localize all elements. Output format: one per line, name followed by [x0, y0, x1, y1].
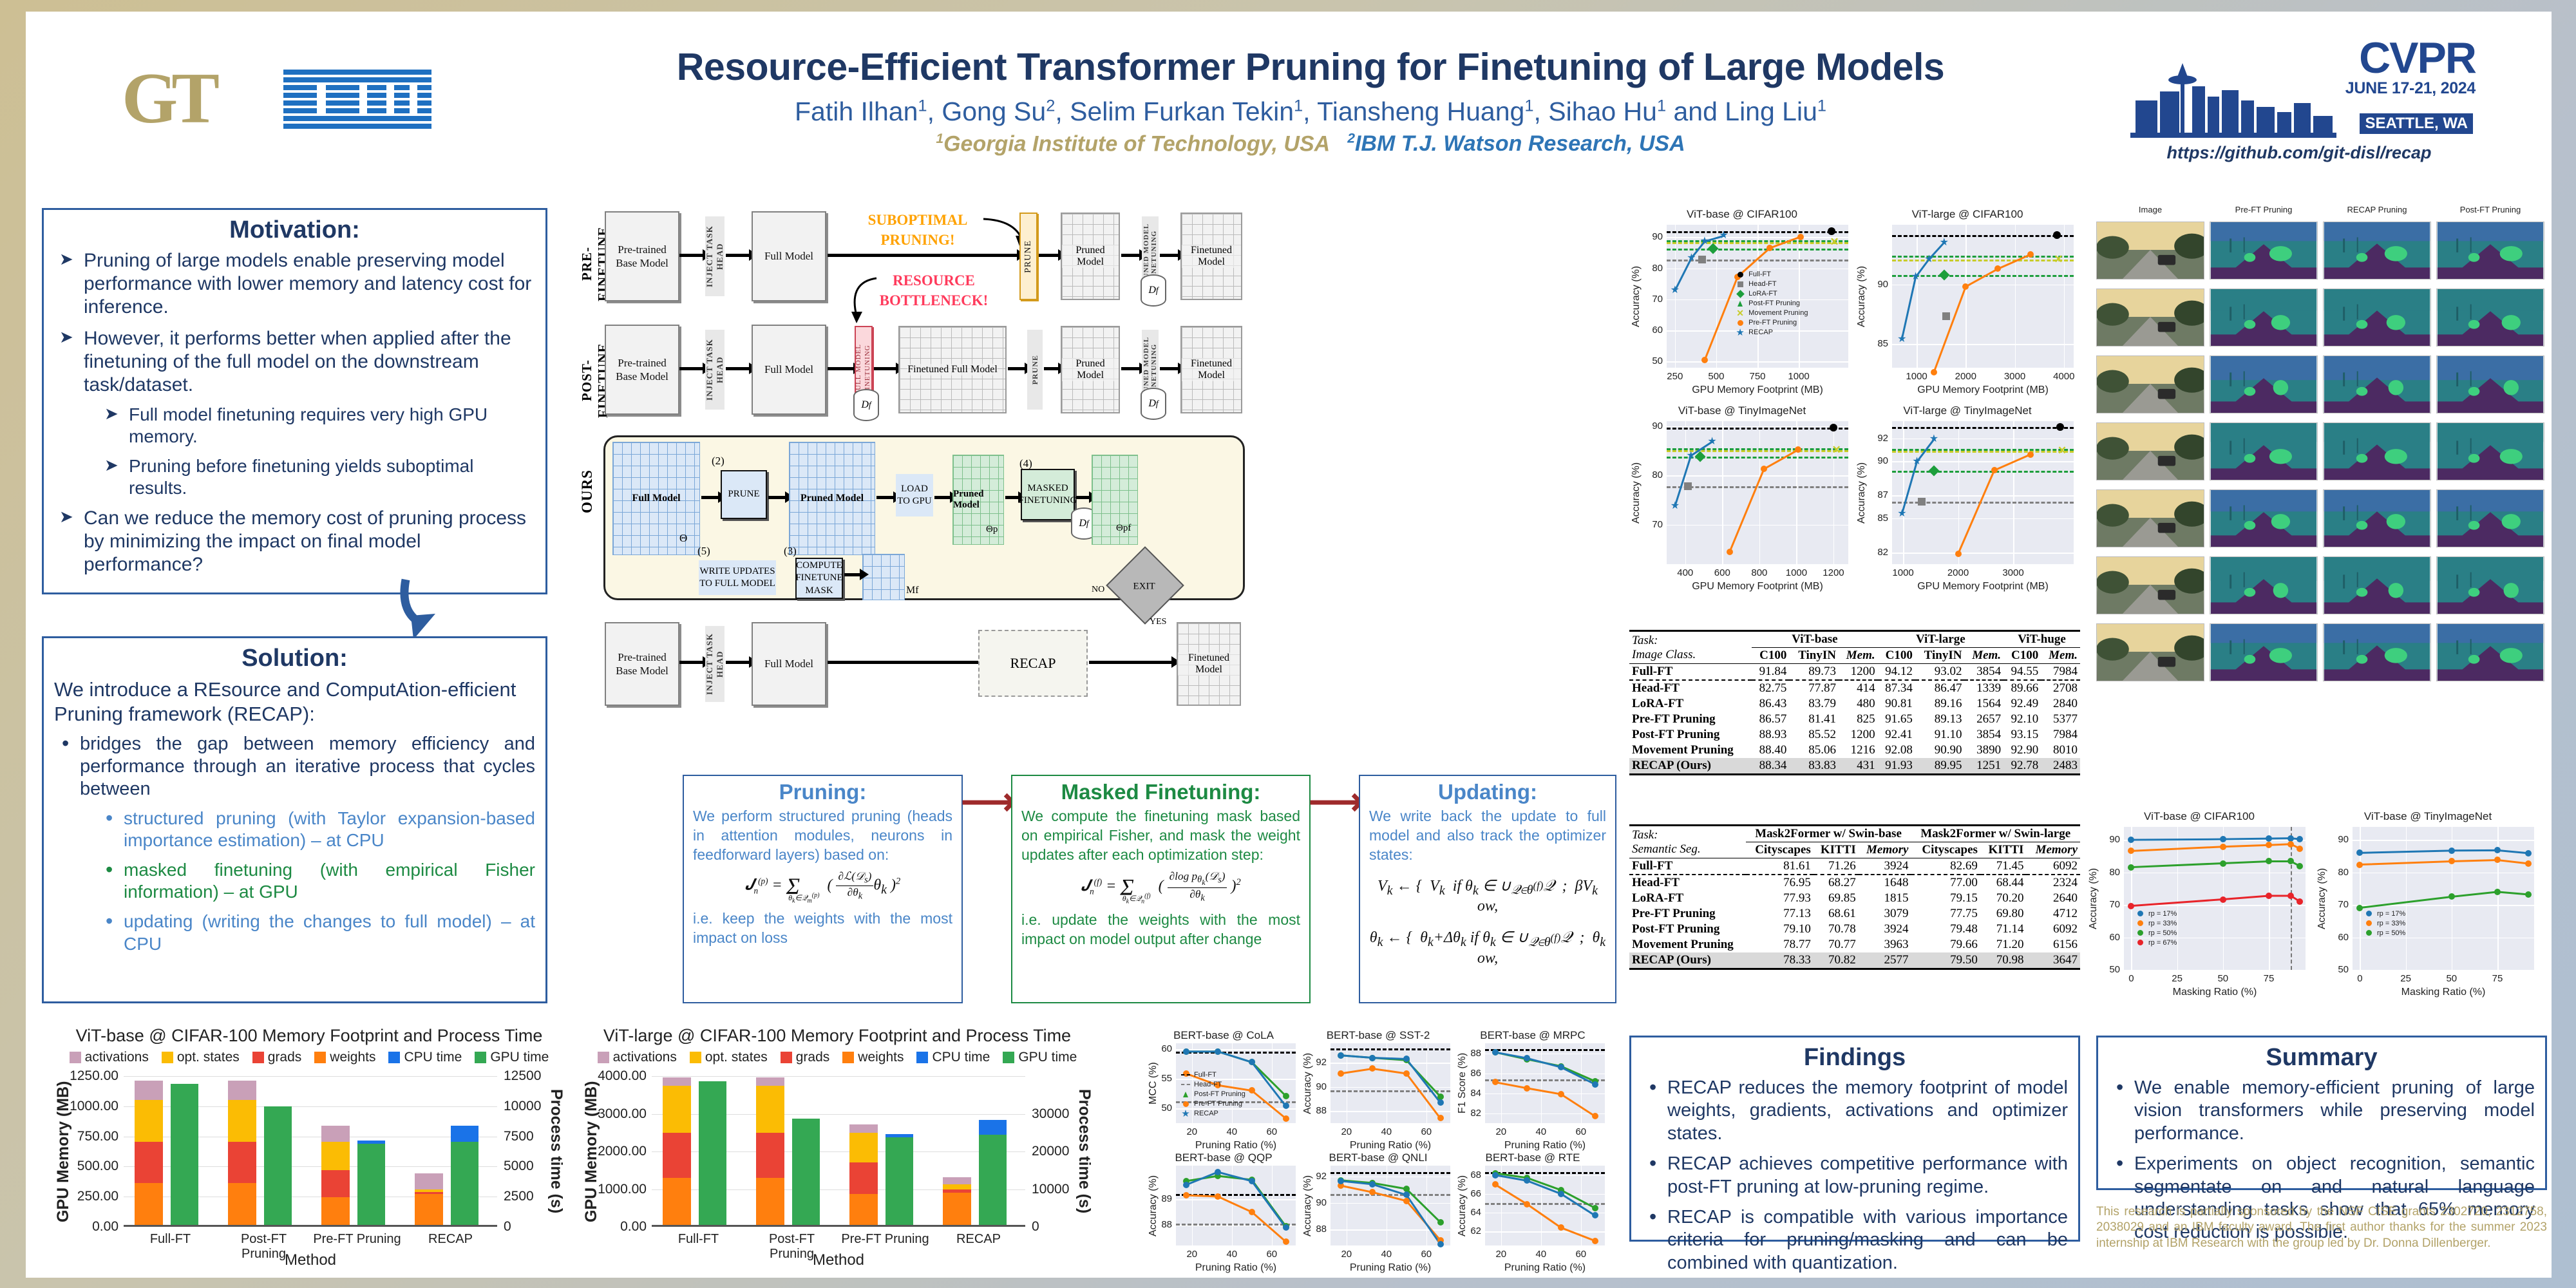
chart-plot-area: ★★★✕ — [1667, 421, 1848, 564]
legend-item: rp = 33% — [2364, 920, 2405, 927]
table-row-label: Post-FT Pruning — [1629, 922, 1746, 937]
series-point — [1523, 1054, 1531, 1062]
bar-segment-weights — [415, 1194, 443, 1225]
table-cell: 77.75 — [1911, 906, 1980, 922]
series-point: ★ — [1925, 256, 1933, 263]
legend-marker-icon — [2364, 920, 2373, 926]
table-cell: 81.41 — [1789, 712, 1839, 727]
callout-arrow-icon — [837, 276, 882, 327]
bar-segment-grads — [849, 1162, 878, 1194]
point-head-ft — [1942, 312, 1951, 321]
x-axis-label: Method — [124, 1251, 497, 1269]
x-tick-label: 250 — [1662, 371, 1688, 382]
prune-label-2: PRUNE — [1027, 330, 1043, 410]
series-point — [2287, 840, 2295, 848]
table-cell: 94.12 — [1878, 664, 1915, 681]
table-cell: 69.85 — [1814, 891, 1859, 906]
bar-segment-optstates — [663, 1086, 691, 1133]
legend-item: weights — [842, 1050, 904, 1065]
legend-item: Head-FT — [1736, 280, 1776, 288]
x-tick-label: 800 — [1747, 567, 1772, 578]
series-point — [1248, 1058, 1256, 1066]
table-row-label: Pre-FT Pruning — [1629, 712, 1752, 727]
table-row-label: LoRA-FT — [1629, 891, 1746, 906]
recap-node: RECAP — [978, 630, 1088, 697]
y-axis-label: MCC (%) — [1148, 1043, 1159, 1123]
table-cell: 69.80 — [1980, 906, 2027, 922]
step-4-label: (4) — [1019, 457, 1032, 470]
callout-resource-bottleneck: RESOURCEBOTTLENECK! — [873, 270, 995, 310]
full-model-node-1: Full Model — [752, 211, 826, 301]
legend-marker-icon — [2136, 920, 2145, 926]
table-cell: 89.95 — [1915, 758, 1965, 775]
x-tick-label: 1000 — [1783, 567, 1809, 578]
bar-segment-CPUtime — [885, 1134, 914, 1137]
table-cell: 90.81 — [1878, 696, 1915, 712]
results-table: Task:Semantic Seg.Mask2Former w/ Swin-ba… — [1629, 824, 2080, 970]
chart-bert_cola: BERT-base @ CoLA204060505560MCC (%)Pruni… — [1146, 1029, 1301, 1151]
table-cell: 83.83 — [1789, 758, 1839, 775]
flow-arrow-icon-2: ⟶ — [1309, 779, 1364, 824]
seg-column-header: Image — [2096, 205, 2204, 214]
table-cell: 82.75 — [1752, 680, 1789, 696]
series-point — [1282, 1115, 1290, 1122]
table-row: Post-FT Pruning79.1070.78392479.4871.146… — [1629, 922, 2080, 937]
point-lora-ft — [1940, 270, 1949, 279]
legend-item: rp = 50% — [2364, 929, 2405, 937]
series-line — [1186, 1195, 1286, 1242]
legend-marker-icon: ★ — [1736, 330, 1745, 336]
list-item: RECAP reduces the memory footprint of mo… — [1642, 1077, 2068, 1145]
bar-segment-grads — [756, 1133, 784, 1178]
table-cell: 77.87 — [1789, 680, 1839, 696]
seg-column-header: Pre-FT Pruning — [2210, 205, 2318, 214]
series-point — [1591, 1237, 1599, 1245]
series-point — [2265, 892, 2273, 900]
x-tick-label: Full-FT — [652, 1232, 745, 1247]
bar-segment-grads — [321, 1170, 350, 1197]
table-cell: 1200 — [1839, 664, 1878, 681]
chart-plot-area: ★★★✕ — [1892, 421, 2074, 564]
bar-segment-optstates — [756, 1086, 784, 1133]
table-cell: 70.77 — [1814, 937, 1859, 952]
series-point — [1591, 1211, 1599, 1219]
table-cell: 79.66 — [1911, 937, 1980, 952]
bar-segment-GPUtime — [171, 1084, 199, 1225]
legend-label: Head-FT — [1194, 1081, 1222, 1088]
legend-label: grads — [796, 1050, 830, 1065]
bar-segment-grads — [415, 1192, 443, 1194]
table-cell: 68.61 — [1814, 906, 1859, 922]
series-point — [1403, 1191, 1410, 1198]
table-cell: 70.98 — [1980, 952, 2027, 969]
point-full-ft — [1829, 423, 1838, 432]
x-tick-label: Pre-FT Pruning — [838, 1232, 932, 1247]
x-axis-label: GPU Memory Footprint (MB) — [1667, 384, 1848, 396]
table-group-header: Mask2Former w/ Swin-large — [1911, 826, 2080, 842]
table-column-header: Cityscapes — [1911, 842, 1980, 858]
compute-finetune-mask-node: COMPUTE FINETUNE MASK — [795, 558, 843, 599]
table-cell: 91.93 — [1878, 758, 1915, 775]
table-cell: 1251 — [1964, 758, 2003, 775]
pruning-text: We perform structured pruning (heads in … — [693, 807, 952, 865]
author-list: Fatih Ilhan1, Gong Su2, Selim Furkan Tek… — [560, 97, 2061, 127]
table-row: RECAP (Ours)78.3370.82257779.5070.983647 — [1629, 952, 2080, 969]
series-point — [1492, 1180, 1499, 1188]
table-row-label: Full-FT — [1629, 664, 1752, 681]
series-point — [1492, 1171, 1499, 1179]
series-point — [2448, 857, 2456, 865]
table-cell: 94.55 — [2003, 664, 2041, 681]
inject-task-head-label-1: INJECT TASK HEAD — [705, 216, 724, 296]
gridline — [124, 1076, 497, 1077]
seg-prediction-image — [2210, 355, 2318, 413]
table-cell: 89.16 — [1915, 696, 1965, 712]
series-point — [2494, 846, 2501, 854]
table-row: Full-FT81.6171.26392482.6971.456092 — [1629, 858, 2080, 875]
solution-box: Solution: We introduce a REsource and Co… — [42, 636, 547, 1003]
list-item: Pruning before finetuning yields subopti… — [100, 455, 534, 498]
legend-swatch — [690, 1052, 701, 1063]
chart-vit_large_tinyin_mem: ViT-large @ TinyImageNet1000200030008285… — [1855, 404, 2080, 598]
image-classification-table: Task:Image Class.ViT-baseViT-largeViT-hu… — [1629, 630, 2080, 775]
bar-segment-CPUtime — [357, 1141, 386, 1144]
chart-bert_qqp: BERT-base @ QQP2040608889Accuracy (%)Pru… — [1146, 1151, 1301, 1274]
seg-prediction-image — [2210, 623, 2318, 681]
chart-bert_mrpc: BERT-base @ MRPC20406082848688F1 Score (… — [1455, 1029, 1610, 1151]
x-tick-label: 60 — [1259, 1249, 1285, 1260]
pruning-note: i.e. keep the weights with the most impa… — [693, 909, 952, 948]
series-line — [1341, 1068, 1441, 1118]
series-point — [2296, 835, 2304, 843]
table-column-header: C100 — [2003, 648, 2041, 664]
x-tick-label: 3000 — [2000, 567, 2026, 578]
legend-label: Pre-FT Pruning — [1194, 1100, 1242, 1108]
x-tick-label: 20 — [1334, 1249, 1359, 1260]
legend-item: GPU time — [475, 1050, 549, 1065]
series-point — [1994, 265, 2002, 272]
x-axis-label: Pruning Ratio (%) — [1176, 1262, 1296, 1274]
point-head-ft — [1917, 497, 1926, 506]
table-row: Post-FT Pruning88.9385.52120092.4191.103… — [1629, 727, 2080, 743]
motivation-title: Motivation: — [44, 216, 545, 244]
legend-marker-icon — [2136, 940, 2145, 945]
y-axis-label: Accuracy (%) — [1631, 225, 1642, 368]
series-point: ★ — [1912, 273, 1920, 281]
series-point — [1797, 233, 1804, 241]
table-row: LoRA-FT86.4383.7948090.8189.16156492.492… — [1629, 696, 2080, 712]
legend-item: ✕Movement Pruning — [1736, 309, 1808, 317]
point-full-ft — [2056, 422, 2065, 431]
series-line — [2131, 838, 2300, 840]
table-cell: 79.15 — [1911, 891, 1980, 906]
chart-series-layer — [1667, 421, 1848, 564]
table-cell: 2640 — [2026, 891, 2080, 906]
table-row-label: Movement Pruning — [1629, 743, 1752, 758]
dataset-cylinder-icon: Df — [1141, 274, 1166, 307]
table-row: Movement Pruning88.4085.06121692.0890.90… — [1629, 743, 2080, 758]
seg-source-image — [2096, 623, 2204, 681]
table-cell: 86.47 — [1915, 680, 1965, 696]
bar-segment-GPUtime — [451, 1142, 479, 1225]
x-tick-label: 20 — [1334, 1126, 1359, 1137]
table-cell: 77.93 — [1746, 891, 1814, 906]
table-cell: 2840 — [2041, 696, 2080, 712]
x-axis-label: Pruning Ratio (%) — [1485, 1262, 1605, 1274]
chart-plot-area — [1176, 1166, 1296, 1245]
series-point — [1337, 1052, 1345, 1059]
poster-canvas: GT Resource-Efficient Transformer Prunin… — [26, 12, 2552, 1278]
series-point — [2127, 836, 2135, 844]
legend-label: Head-FT — [1748, 280, 1776, 288]
table-cell: 3890 — [1964, 743, 2003, 758]
series-point — [1437, 1099, 1444, 1106]
table-cell: 8010 — [2041, 743, 2080, 758]
chart-bert_qnli: BERT-base @ QNLI204060889092Accuracy (%)… — [1301, 1151, 1455, 1274]
chart-series-layer — [1331, 1043, 1450, 1123]
chart-series-layer — [1892, 225, 2074, 368]
table-cell: 85.52 — [1789, 727, 1839, 743]
legend-item: activations — [70, 1050, 149, 1065]
chart-title: BERT-base @ QNLI — [1301, 1151, 1455, 1164]
acknowledgement-text: This research is partially sponsored by … — [2096, 1204, 2547, 1251]
legend-label: rp = 33% — [2377, 920, 2405, 927]
legend-label: rp = 33% — [2148, 920, 2177, 927]
series-point — [1557, 1224, 1565, 1231]
bar-segment-activations — [943, 1177, 971, 1184]
legend-swatch — [916, 1052, 928, 1063]
motivation-box: Motivation: Pruning of large models enab… — [42, 208, 547, 594]
y-axis-label: Accuracy (%) — [1148, 1166, 1159, 1245]
chart-mask_cifar100: ViT-base @ CIFAR10002550755060708090Accu… — [2087, 810, 2312, 1003]
series-point — [2448, 893, 2456, 900]
bar-segment-CPUtime — [979, 1120, 1007, 1135]
table-cell: 77.13 — [1746, 906, 1814, 922]
table-cell: 70.78 — [1814, 922, 1859, 937]
table-column-header: Mem. — [1964, 648, 2003, 664]
x-tick-label: 20 — [1179, 1126, 1205, 1137]
bar-segment-activations — [663, 1077, 691, 1086]
table-cell: 81.61 — [1746, 858, 1814, 875]
legend-marker-icon — [1181, 1101, 1190, 1107]
series-point — [1930, 368, 1938, 376]
row-label-pre-finetune: PRE-FINETUNEPRUNING — [579, 213, 597, 316]
legend-label: Post-FT Pruning — [1748, 299, 1800, 307]
point-head-ft — [1683, 482, 1692, 491]
x-tick-label: 25 — [2393, 973, 2419, 984]
no-label: NO — [1092, 585, 1104, 595]
series-line — [1341, 1186, 1441, 1240]
bar-segment-weights — [943, 1193, 971, 1225]
legend-marker-icon — [2364, 930, 2373, 936]
table-cell: 82.69 — [1911, 858, 1980, 875]
table-row-label: Head-FT — [1629, 875, 1746, 891]
series-line — [1186, 1176, 1286, 1226]
table-cell: 90.90 — [1915, 743, 1965, 758]
series-point — [2219, 860, 2227, 867]
legend-item: rp = 17% — [2364, 910, 2405, 918]
legend-item: ★RECAP — [1181, 1110, 1218, 1117]
table-cell: 2708 — [2041, 680, 2080, 696]
list-item: Full model finetuning requires very high… — [100, 404, 534, 447]
x-tick-label: RECAP — [404, 1232, 497, 1247]
seg-prediction-image — [2210, 489, 2318, 547]
table-row: LoRA-FT77.9369.85181579.1570.202640 — [1629, 891, 2080, 906]
point-lora-ft — [1696, 452, 1705, 461]
chart-series-layer — [1176, 1166, 1296, 1245]
table-cell: 88.40 — [1752, 743, 1789, 758]
legend-marker-icon — [1736, 272, 1745, 278]
masked-note: i.e. update the weights with the most im… — [1021, 911, 1300, 949]
table-row: RECAP (Ours)88.3483.8343191.9389.9512519… — [1629, 758, 2080, 775]
finetuned-model-node-3: Finetuned Model — [1177, 622, 1241, 706]
series-point — [1523, 1177, 1531, 1184]
legend-label: weights — [330, 1050, 375, 1065]
x-axis-label: Masking Ratio (%) — [2124, 987, 2306, 998]
seg-prediction-image — [2210, 289, 2318, 346]
series-point — [1368, 1065, 1376, 1072]
chart-series-layer — [1485, 1043, 1605, 1123]
series-point — [2219, 843, 2227, 851]
project-url[interactable]: https://github.com/git-disl/recap — [2119, 143, 2479, 163]
series-point — [1591, 1204, 1599, 1212]
series-point — [2524, 891, 2532, 898]
table-cell: 76.95 — [1746, 875, 1814, 891]
chart-title: BERT-base @ MRPC — [1455, 1029, 1610, 1042]
legend-marker-icon — [2136, 911, 2145, 916]
table-cell: 79.48 — [1911, 922, 1980, 937]
series-point — [1726, 548, 1734, 556]
chart-legend: activationsopt. statesgradsweightsCPU ti… — [52, 1050, 567, 1065]
legend-label: RECAP — [1748, 328, 1773, 336]
bar-segment-CPUtime — [451, 1126, 479, 1142]
chart-title: ViT-base @ CIFAR-100 Memory Footprint an… — [52, 1026, 567, 1046]
bar-segment-grads — [228, 1142, 256, 1184]
series-point — [1701, 356, 1709, 364]
series-point — [2356, 861, 2363, 869]
table-row: Pre-FT Pruning86.5781.4182591.6589.13265… — [1629, 712, 2080, 727]
x-tick-label: 60 — [1259, 1126, 1285, 1137]
series-point — [1523, 1084, 1531, 1092]
x-tick-label: 4000 — [2051, 371, 2077, 382]
legend-label: rp = 50% — [2148, 929, 2177, 937]
x-axis-label: Pruning Ratio (%) — [1331, 1140, 1450, 1151]
legend-item: Pre-FT Pruning — [1181, 1100, 1242, 1108]
chart-title: ViT-base @ CIFAR100 — [1629, 208, 1855, 221]
table-cell: 6156 — [2026, 937, 2080, 952]
bar-segment-GPUtime — [357, 1144, 386, 1225]
table-cell: 70.20 — [1980, 891, 2027, 906]
table-cell: 92.10 — [2003, 712, 2041, 727]
series-point: ★ — [1671, 287, 1679, 294]
table-cell: 3924 — [1859, 858, 1911, 875]
table-cell: 480 — [1839, 696, 1878, 712]
legend-marker-icon — [1181, 1084, 1190, 1085]
cvpr-badge: CVPR JUNE 17-21, 2024 SEATTLE, WA https:… — [2119, 26, 2479, 163]
chart-title: ViT-large @ TinyImageNet — [1855, 404, 2080, 417]
x-tick-label: 400 — [1672, 567, 1698, 578]
legend-marker-icon — [1736, 291, 1745, 297]
updating-text: We write back the update to full model a… — [1369, 807, 1606, 865]
list-item: We enable memory-efficient pruning of la… — [2108, 1077, 2535, 1145]
full-model-node-2: Full Model — [752, 325, 826, 415]
list-item: However, it performs better when applied… — [55, 327, 534, 498]
x-tick-label: 0 — [2347, 973, 2372, 984]
inject-task-head-label-3: INJECT TASK HEAD — [705, 626, 724, 702]
series-point — [1282, 1102, 1290, 1110]
seg-prediction-image — [2436, 422, 2544, 480]
legend-label: Full-FT — [1748, 270, 1771, 278]
bar-segment-activations — [849, 1124, 878, 1133]
findings-title: Findings — [1631, 1044, 2078, 1072]
legend-marker-icon — [2136, 930, 2145, 936]
series-point — [1248, 1177, 1256, 1185]
pruning-title: Pruning: — [693, 780, 952, 804]
table-cell: 1339 — [1964, 680, 2003, 696]
table-row: Head-FT76.9568.27164877.0068.442324 — [1629, 875, 2080, 891]
series-point — [1248, 1086, 1256, 1094]
cvpr-logo: CVPR JUNE 17-21, 2024 SEATTLE, WA — [2119, 26, 2479, 142]
table-cell: 78.33 — [1746, 952, 1814, 969]
table-cell: 3647 — [2026, 952, 2080, 969]
series-point: ★ — [1687, 254, 1695, 262]
finetuned-full-model-node: Finetuned Full Model — [898, 326, 1007, 413]
seg-prediction-image — [2436, 489, 2544, 547]
bar-segment-activations — [321, 1126, 350, 1142]
x-axis-label: Pruning Ratio (%) — [1176, 1140, 1296, 1151]
table-cell: 86.43 — [1752, 696, 1789, 712]
series-line — [1341, 1181, 1441, 1244]
series-point — [2524, 860, 2532, 867]
cvpr-text: CVPR JUNE 17-21, 2024 — [2345, 37, 2476, 98]
y-axis-label: Accuracy (%) — [2088, 827, 2099, 970]
chart-title: ViT-large @ CIFAR100 — [1855, 208, 2080, 221]
legend-item: Post-FT Pruning — [1181, 1090, 1245, 1098]
y-axis-label: Accuracy (%) — [1856, 225, 1868, 368]
seg-prediction-image — [2323, 623, 2431, 681]
series-point: ★ — [1701, 238, 1709, 245]
finetuned-model-node-2: Finetuned Model — [1180, 326, 1242, 413]
seg-source-image — [2096, 222, 2204, 279]
findings-box: Findings RECAP reduces the memory footpr… — [1629, 1036, 2080, 1242]
x-tick-label: 60 — [1414, 1249, 1439, 1260]
summary-box: Summary We enable memory-efficient pruni… — [2096, 1036, 2547, 1190]
legend-swatch — [162, 1052, 173, 1063]
x-tick-label: Full-FT — [124, 1232, 217, 1247]
seattle-skyline-icon — [2130, 61, 2336, 138]
series-line — [1495, 1052, 1595, 1084]
series-point — [1282, 1238, 1290, 1245]
y-axis-label: GPU Memory (MB) — [54, 1076, 73, 1227]
table-cell: 88.34 — [1752, 758, 1789, 775]
series-point — [1591, 1112, 1599, 1120]
table-column-header: Memory — [1859, 842, 1911, 858]
series-point — [2356, 904, 2363, 912]
point-head-ft — [1698, 255, 1707, 264]
legend-label: opt. states — [177, 1050, 240, 1065]
x-tick-label: 40 — [1528, 1249, 1554, 1260]
bar-segment-GPUtime — [264, 1106, 292, 1225]
legend-label: LoRA-FT — [1748, 290, 1777, 298]
table-group-header: ViT-base — [1752, 631, 1877, 648]
theta-pf-label: Θpf — [1116, 523, 1131, 534]
legend-swatch — [598, 1052, 609, 1063]
series-line — [2131, 844, 2300, 851]
table-cell: 71.14 — [1980, 922, 2027, 937]
series-point: ★ — [1898, 510, 1906, 518]
series-line — [1495, 1082, 1595, 1116]
table-cell: 70.82 — [1814, 952, 1859, 969]
